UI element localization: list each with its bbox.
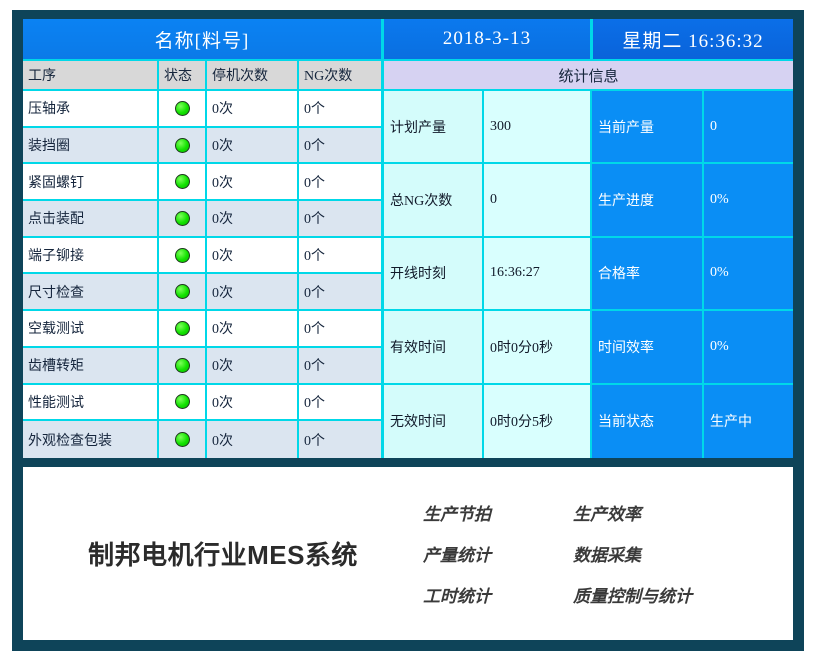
column-header-stops: 停机次数 [207,61,299,89]
process-status-cell [159,385,207,420]
statistics-grid: 计划产量300当前产量0总NG次数0生产进度0%开线时刻16:36:27合格率0… [384,91,793,458]
process-name-cell: 端子铆接 [23,238,159,273]
stat-label-right: 当前产量 [592,91,704,162]
table-row[interactable]: 装挡圈0次0个 [23,128,381,165]
process-ng-cell: 0个 [299,164,381,199]
stat-label-left: 计划产量 [384,91,484,162]
table-row[interactable]: 空载测试0次0个 [23,311,381,348]
process-ng-cell: 0个 [299,274,381,309]
process-stops-cell: 0次 [207,128,299,163]
stat-label-left: 总NG次数 [384,164,484,235]
process-stops-cell: 0次 [207,201,299,236]
stats-row: 有效时间0时0分0秒时间效率0% [384,311,793,384]
process-name-cell: 装挡圈 [23,128,159,163]
stat-label-left: 无效时间 [384,385,484,458]
table-row[interactable]: 齿槽转矩0次0个 [23,348,381,385]
process-table-header-row: 工序 状态 停机次数 NG次数 [23,61,381,89]
process-ng-cell: 0个 [299,385,381,420]
stat-value-right: 0% [704,311,793,382]
stat-value-left: 0 [484,164,592,235]
stat-label-left: 有效时间 [384,311,484,382]
process-ng-cell: 0个 [299,421,381,458]
process-stops-cell: 0次 [207,421,299,458]
process-table: 压轴承0次0个装挡圈0次0个紧固螺钉0次0个点击装配0次0个端子铆接0次0个尺寸… [23,91,381,458]
feature-item: 产量统计 [423,541,573,566]
green-led-icon [175,211,190,226]
green-led-icon [175,138,190,153]
table-row[interactable]: 点击装配0次0个 [23,201,381,238]
stat-label-right: 生产进度 [592,164,704,235]
column-header-status: 状态 [159,61,207,89]
brand-name: 制邦电机行业MES系统 [23,535,423,572]
stat-value-right: 0 [704,91,793,162]
frame-border-left [12,10,23,651]
green-led-icon [175,358,190,373]
process-status-cell [159,91,207,126]
process-name-cell: 外观检查包装 [23,421,159,458]
process-ng-cell: 0个 [299,348,381,383]
table-row[interactable]: 端子铆接0次0个 [23,238,381,275]
process-status-cell [159,348,207,383]
mes-dashboard-screen: 名称[料号] 2018-3-13 星期二 16:36:32 工序 状态 停机次数… [0,0,816,664]
table-row[interactable]: 尺寸检查0次0个 [23,274,381,311]
process-ng-cell: 0个 [299,201,381,236]
process-ng-cell: 0个 [299,91,381,126]
process-status-cell [159,238,207,273]
stat-value-left: 0时0分5秒 [484,385,592,458]
stat-value-left: 16:36:27 [484,238,592,309]
green-led-icon [175,248,190,263]
stat-label-right: 合格率 [592,238,704,309]
process-status-cell [159,421,207,458]
process-name-cell: 尺寸检查 [23,274,159,309]
process-stops-cell: 0次 [207,385,299,420]
process-stops-cell: 0次 [207,164,299,199]
dashboard-panel: 名称[料号] 2018-3-13 星期二 16:36:32 工序 状态 停机次数… [23,19,793,458]
stats-section-title: 统计信息 [384,61,793,89]
process-name-cell: 齿槽转矩 [23,348,159,383]
column-header-process: 工序 [23,61,159,89]
stats-row: 总NG次数0生产进度0% [384,164,793,237]
table-row[interactable]: 压轴承0次0个 [23,91,381,128]
frame-border-right [793,10,804,651]
process-name-cell: 点击装配 [23,201,159,236]
green-led-icon [175,284,190,299]
process-status-cell [159,274,207,309]
header-title-cell: 名称[料号] [23,19,381,59]
feature-item: 工时统计 [423,582,573,607]
current-weekday-time: 星期二 16:36:32 [593,19,793,59]
stat-label-right: 时间效率 [592,311,704,382]
stats-row: 开线时刻16:36:27合格率0% [384,238,793,311]
green-led-icon [175,394,190,409]
process-ng-cell: 0个 [299,238,381,273]
table-row[interactable]: 紧固螺钉0次0个 [23,164,381,201]
process-status-cell [159,128,207,163]
table-row[interactable]: 外观检查包装0次0个 [23,421,381,458]
green-led-icon [175,432,190,447]
process-name-cell: 性能测试 [23,385,159,420]
process-stops-cell: 0次 [207,238,299,273]
column-header-ng: NG次数 [299,61,381,89]
frame-divider-middle [12,458,804,467]
process-status-cell [159,164,207,199]
stat-label-right: 当前状态 [592,385,704,458]
current-date: 2018-3-13 [384,19,590,59]
page-title: 名称[料号] [23,19,381,59]
process-name-cell: 紧固螺钉 [23,164,159,199]
process-stops-cell: 0次 [207,348,299,383]
feature-list: 生产节拍生产效率产量统计数据采集工时统计质量控制与统计 [423,500,692,607]
stat-value-left: 300 [484,91,592,162]
green-led-icon [175,321,190,336]
feature-item: 生产效率 [573,500,692,525]
stat-value-right: 0% [704,164,793,235]
stat-value-right: 生产中 [704,385,793,458]
feature-item: 数据采集 [573,541,692,566]
stat-value-left: 0时0分0秒 [484,311,592,382]
stats-row: 无效时间0时0分5秒当前状态生产中 [384,385,793,458]
process-name-cell: 压轴承 [23,91,159,126]
frame-border-top [12,10,804,19]
green-led-icon [175,101,190,116]
stat-label-left: 开线时刻 [384,238,484,309]
process-stops-cell: 0次 [207,274,299,309]
brand-banner: 制邦电机行业MES系统 生产节拍生产效率产量统计数据采集工时统计质量控制与统计 [23,467,793,640]
process-stops-cell: 0次 [207,91,299,126]
table-row[interactable]: 性能测试0次0个 [23,385,381,422]
header-time-cell: 星期二 16:36:32 [593,19,793,59]
process-status-cell [159,201,207,236]
feature-item: 质量控制与统计 [573,582,692,607]
stat-value-right: 0% [704,238,793,309]
process-ng-cell: 0个 [299,311,381,346]
header-date-cell: 2018-3-13 [384,19,590,59]
process-stops-cell: 0次 [207,311,299,346]
process-ng-cell: 0个 [299,128,381,163]
stats-row: 计划产量300当前产量0 [384,91,793,164]
process-status-cell [159,311,207,346]
feature-item: 生产节拍 [423,500,573,525]
process-name-cell: 空载测试 [23,311,159,346]
frame-border-bottom [12,640,804,651]
green-led-icon [175,174,190,189]
